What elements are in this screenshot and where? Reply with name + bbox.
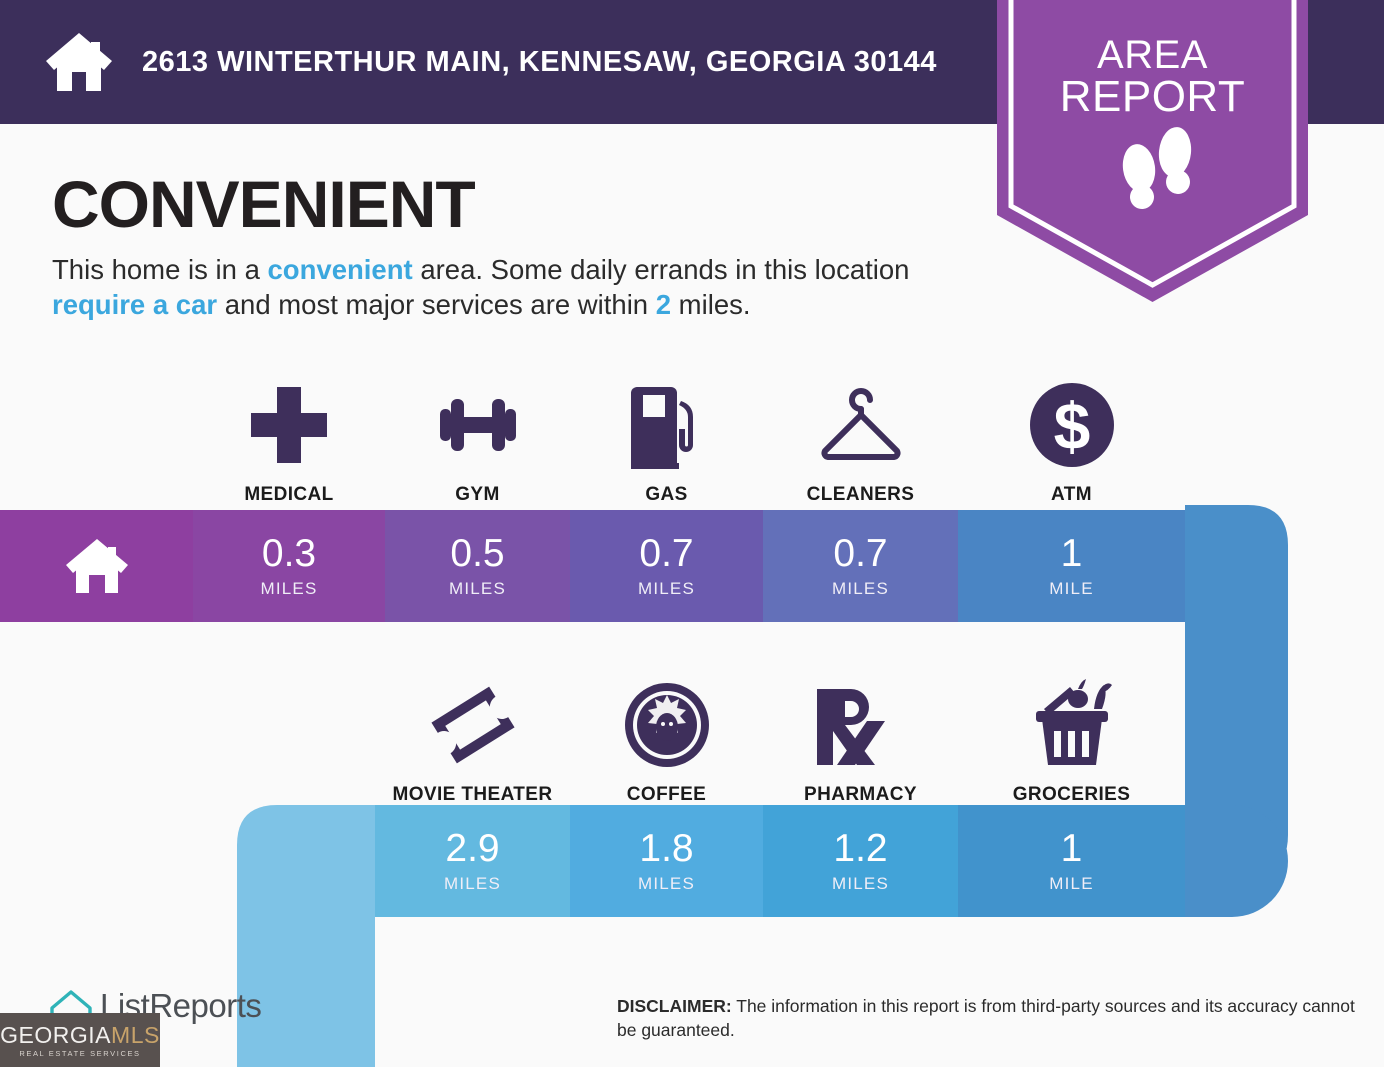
amenity-gym: GYM bbox=[385, 365, 570, 506]
distance-value: 1 bbox=[958, 829, 1185, 869]
amenity-label: COFFEE bbox=[570, 784, 763, 806]
distance-unit: MILES bbox=[763, 579, 958, 599]
summary-highlight: 2 bbox=[656, 289, 671, 320]
area-report-badge: AREA REPORT bbox=[997, 0, 1308, 302]
distance-unit: MILE bbox=[958, 579, 1185, 599]
movie-ticket-icon bbox=[375, 665, 570, 775]
svg-text:$: $ bbox=[1053, 389, 1090, 463]
medical-cross-icon bbox=[193, 365, 385, 475]
gmls-mls-text: MLS bbox=[111, 1022, 160, 1048]
badge-line-2: REPORT bbox=[997, 76, 1308, 118]
summary-fragment: area. Some daily errands in this locatio… bbox=[413, 254, 910, 285]
amenity-atm: $ATM bbox=[958, 365, 1185, 506]
amenity-label: PHARMACY bbox=[763, 784, 958, 806]
bar-cell-atm: 1MILE bbox=[958, 510, 1185, 622]
amenity-groceries: GROCERIES bbox=[958, 665, 1185, 806]
disclaimer: DISCLAIMER: The information in this repo… bbox=[617, 994, 1357, 1042]
georgia-mls-wordmark: GEORGIAMLS bbox=[0, 1023, 160, 1047]
distance-unit: MILES bbox=[763, 874, 958, 894]
distance-value: 0.5 bbox=[385, 534, 570, 574]
distance-value: 0.7 bbox=[763, 534, 958, 574]
amenity-label: GAS bbox=[570, 484, 763, 506]
amenity-label: GROCERIES bbox=[958, 784, 1185, 806]
amenity-medical: MEDICAL bbox=[193, 365, 385, 506]
bar-cell-home bbox=[0, 510, 193, 622]
summary-fragment: This home is in a bbox=[52, 254, 268, 285]
distance-value: 0.3 bbox=[193, 534, 385, 574]
georgia-mls-watermark: GEORGIAMLS REAL ESTATE SERVICES bbox=[0, 1013, 160, 1067]
grocery-basket-icon bbox=[958, 665, 1185, 775]
summary-fragment: and most major services are within bbox=[217, 289, 656, 320]
distance-unit: MILES bbox=[193, 579, 385, 599]
gas-pump-icon bbox=[570, 365, 763, 475]
page-title: CONVENIENT bbox=[52, 166, 475, 242]
bar-cell-gas: 0.7MILES bbox=[570, 510, 763, 622]
bar-cell-movie-theater: 2.9MILES bbox=[375, 805, 570, 917]
bar-cell-coffee: 1.8MILES bbox=[570, 805, 763, 917]
amenity-label: ATM bbox=[958, 484, 1185, 506]
amenity-icon-row-2: MOVIE THEATERCOFFEEPHARMACYGROCERIES bbox=[0, 665, 1384, 805]
distance-value: 2.9 bbox=[375, 829, 570, 869]
clothes-hanger-icon bbox=[763, 365, 958, 475]
summary-text: This home is in a convenient area. Some … bbox=[52, 252, 962, 322]
home-icon bbox=[44, 31, 114, 93]
amenity-gas: GAS bbox=[570, 365, 763, 506]
amenity-pharmacy: PHARMACY bbox=[763, 665, 958, 806]
amenity-label: GYM bbox=[385, 484, 570, 506]
amenity-label: CLEANERS bbox=[763, 484, 958, 506]
summary-highlight: require a car bbox=[52, 289, 217, 320]
bar-cell-medical: 0.3MILES bbox=[193, 510, 385, 622]
amenity-coffee: COFFEE bbox=[570, 665, 763, 806]
badge-text: AREA REPORT bbox=[997, 34, 1308, 118]
dollar-circle-icon: $ bbox=[958, 365, 1185, 475]
distance-value: 0.7 bbox=[570, 534, 763, 574]
bar-cell-pharmacy: 1.2MILES bbox=[763, 805, 958, 917]
distance-unit: MILES bbox=[385, 579, 570, 599]
distance-value: 1.8 bbox=[570, 829, 763, 869]
home-icon bbox=[0, 510, 193, 622]
dumbbell-icon bbox=[385, 365, 570, 475]
amenity-icon-row-1: MEDICALGYMGASCLEANERS$ATM bbox=[0, 365, 1384, 505]
bar-cell-gym: 0.5MILES bbox=[385, 510, 570, 622]
distance-unit: MILE bbox=[958, 874, 1185, 894]
bar-cell-groceries: 1MILE bbox=[958, 805, 1185, 917]
distance-unit: MILES bbox=[570, 579, 763, 599]
distance-unit: MILES bbox=[375, 874, 570, 894]
badge-line-1: AREA bbox=[1097, 33, 1208, 77]
bar-cell-cleaners: 0.7MILES bbox=[763, 510, 958, 622]
rx-icon bbox=[763, 665, 958, 775]
property-address: 2613 WINTERTHUR MAIN, KENNESAW, GEORGIA … bbox=[142, 46, 937, 79]
starbucks-icon bbox=[570, 665, 763, 775]
distance-unit: MILES bbox=[570, 874, 763, 894]
summary-fragment: miles. bbox=[671, 289, 750, 320]
amenity-cleaners: CLEANERS bbox=[763, 365, 958, 506]
disclaimer-label: DISCLAIMER: bbox=[617, 996, 732, 1016]
gmls-tagline: REAL ESTATE SERVICES bbox=[19, 1049, 140, 1058]
amenity-label: MOVIE THEATER bbox=[375, 784, 570, 806]
amenity-label: MEDICAL bbox=[193, 484, 385, 506]
amenity-movie-theater: MOVIE THEATER bbox=[375, 665, 570, 806]
summary-highlight: convenient bbox=[268, 254, 413, 285]
distance-value: 1 bbox=[958, 534, 1185, 574]
gmls-georgia-text: GEORGIA bbox=[0, 1022, 111, 1048]
distance-value: 1.2 bbox=[763, 829, 958, 869]
